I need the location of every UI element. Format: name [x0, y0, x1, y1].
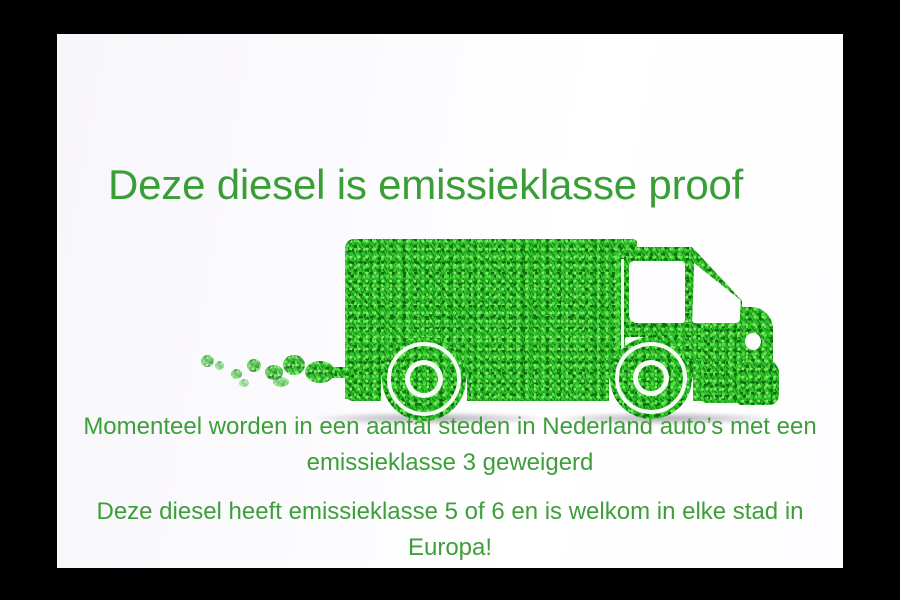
- slide-canvas: Deze diesel is emissieklasse proof: [57, 34, 843, 568]
- image-frame: Deze diesel is emissieklasse proof: [0, 0, 900, 600]
- caption-paragraph: Deze diesel heeft emissieklasse 5 of 6 e…: [65, 494, 835, 566]
- exhaust-puff: [305, 361, 335, 383]
- caption-block: Momenteel worden in een aantal steden in…: [65, 409, 835, 566]
- caption-paragraph: Momenteel worden in een aantal steden in…: [65, 409, 835, 481]
- exhaust-puff: [239, 379, 249, 387]
- exhaust-puff: [247, 359, 261, 372]
- exhaust-puff: [283, 355, 305, 375]
- exhaust-puff: [231, 369, 242, 379]
- exhaust-puff: [215, 361, 224, 370]
- van-exhaust-smoke: [177, 189, 777, 439]
- exhaust-puff: [201, 355, 214, 367]
- van-illustration: [177, 189, 777, 439]
- exhaust-puff: [273, 377, 289, 387]
- eco-van-icon: [177, 189, 777, 439]
